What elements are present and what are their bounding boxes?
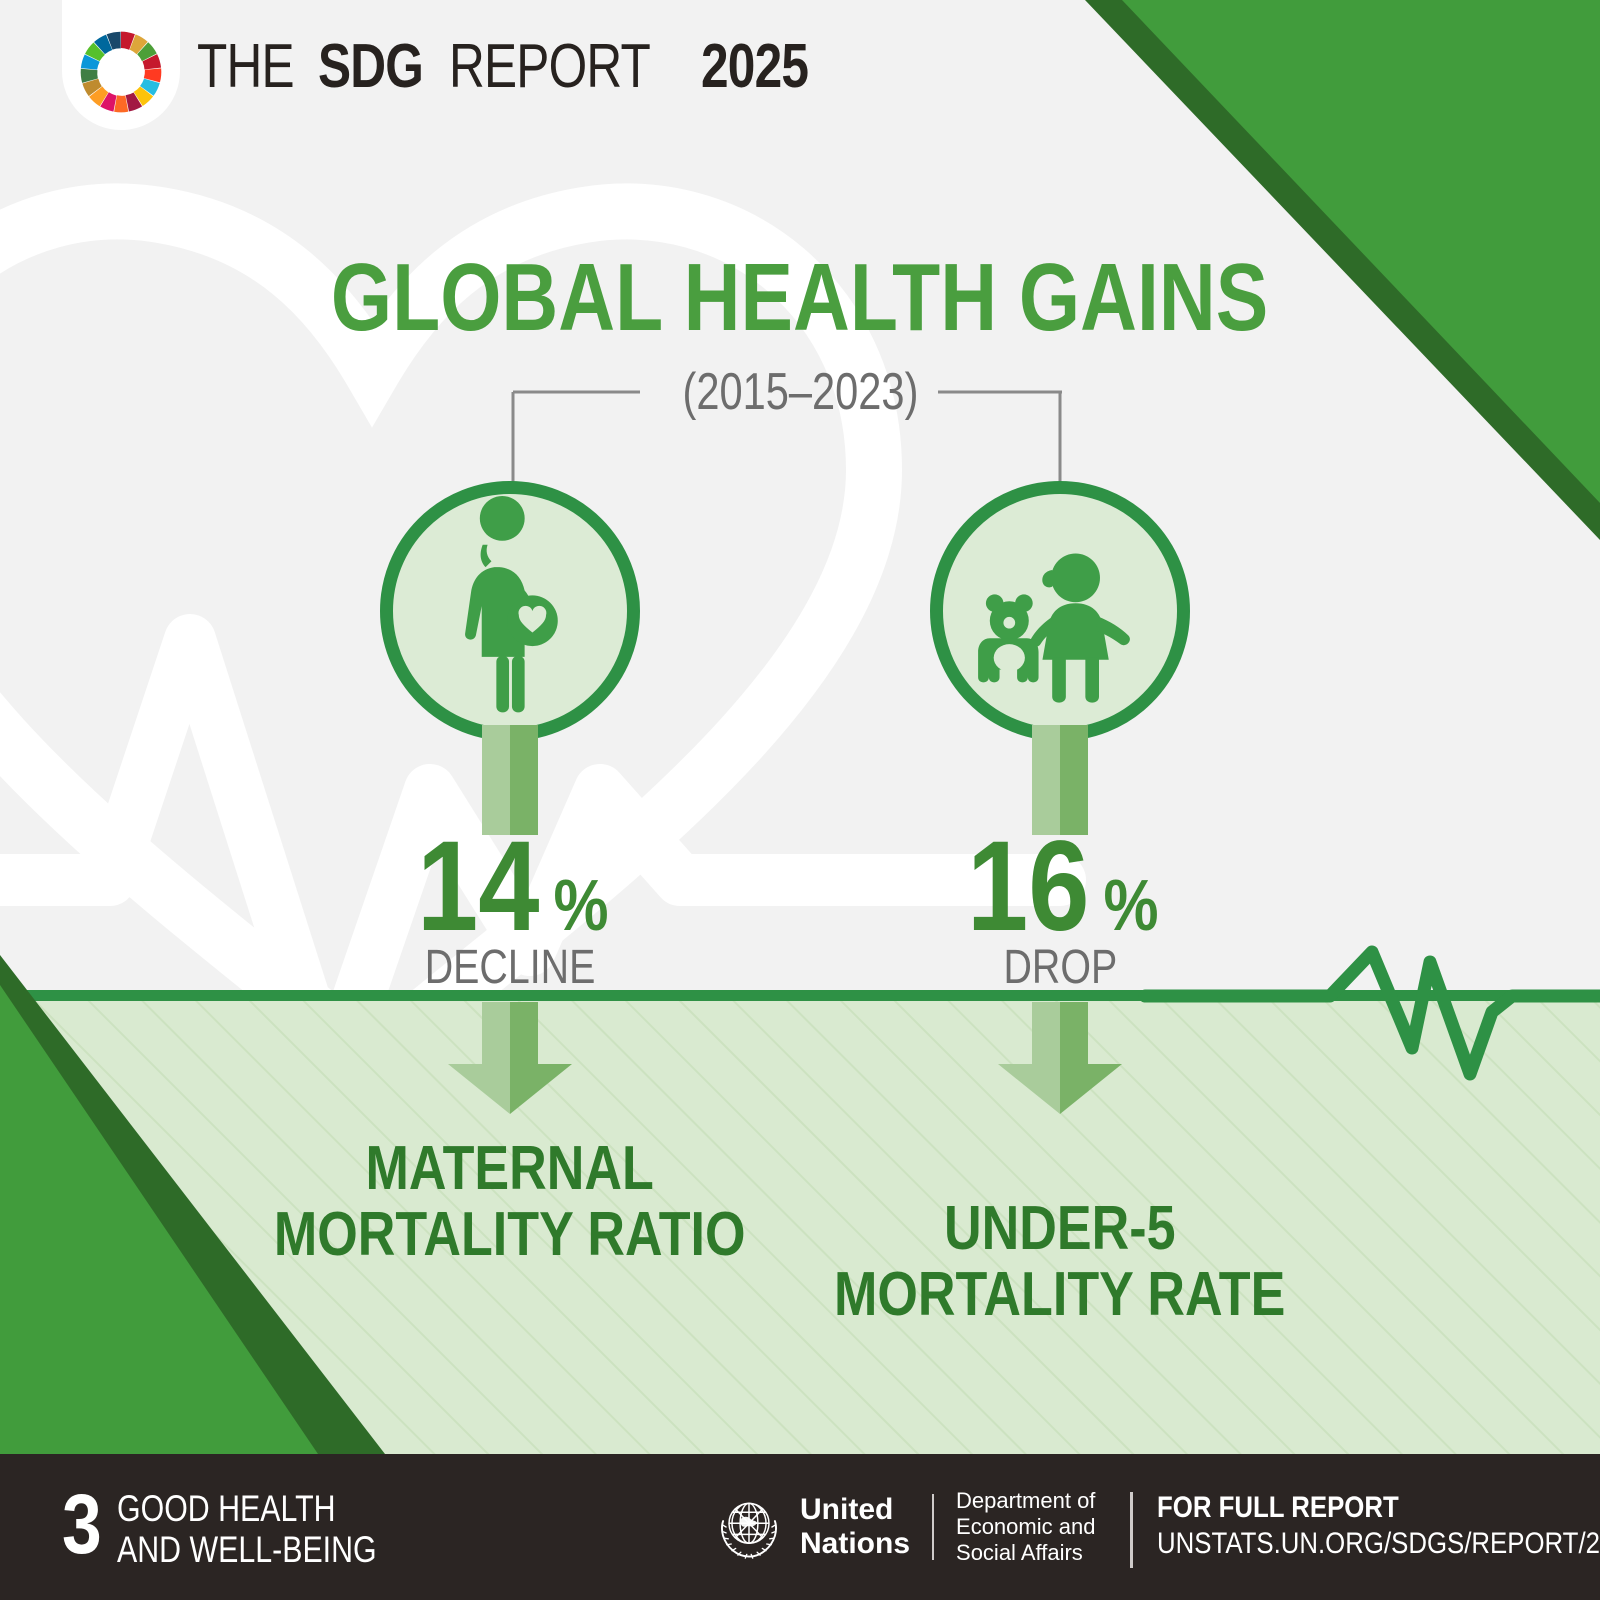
stat-number-maternal: 14 (417, 828, 539, 946)
sdg-color-wheel-icon (73, 24, 169, 120)
report-cta-text: FOR FULL REPORT (1157, 1490, 1399, 1526)
goal-number: 3 (62, 1482, 109, 1566)
footer-bar: 3 GOOD HEALTH AND WELL-BEING (0, 1454, 1600, 1600)
un-name: United Nations (800, 1493, 910, 1561)
stat-direction-under5-text: DROP (1003, 942, 1117, 994)
infographic-poster: THESDGREPORT2025 GLOBAL HEALTH GAINS (20… (0, 0, 1600, 1600)
report-url[interactable]: UNSTATS.UN.ORG/SDGS/REPORT/2025 (1157, 1526, 1600, 1562)
report-divider (1130, 1492, 1133, 1568)
report-url-text[interactable]: UNSTATS.UN.ORG/SDGS/REPORT/2025 (1157, 1526, 1600, 1562)
full-report-link[interactable]: FOR FULL REPORT UNSTATS.UN.ORG/SDGS/REPO… (1130, 1490, 1600, 1568)
stat-indicator-maternal-l2: MORTALITY RATIO (210, 1202, 810, 1268)
un-desa-logo: United Nations Department of Economic an… (712, 1490, 1095, 1564)
stat-indicator-under5-line2: MORTALITY RATE (834, 1262, 1285, 1328)
stat-direction-maternal: DECLINE (250, 942, 770, 994)
stat-indicator-under5: UNDER-5 (760, 1196, 1360, 1262)
child-with-teddy-bear-icon (943, 494, 1177, 728)
down-arrow-icon-under5 (998, 1002, 1122, 1114)
stat-direction-under5: DROP (800, 942, 1320, 994)
goal-title: GOOD HEALTH AND WELL-BEING (117, 1488, 434, 1570)
goal-title-line2: AND WELL-BEING (117, 1529, 377, 1570)
un-divider (932, 1494, 934, 1560)
icon-circle-under5 (930, 481, 1190, 741)
down-arrow-icon-maternal (448, 1002, 572, 1114)
goal-title-line1: GOOD HEALTH (117, 1488, 377, 1529)
un-department-line3: Social Affairs (956, 1540, 1095, 1566)
stat-number-under5: 16 (967, 828, 1089, 946)
un-emblem-icon (712, 1490, 786, 1564)
un-department-line2: Economic and (956, 1514, 1095, 1540)
un-name-line2: Nations (800, 1527, 910, 1561)
stat-indicator-under5-line1: UNDER-5 (944, 1196, 1175, 1262)
un-department-line1: Department of (956, 1488, 1095, 1514)
un-name-line1: United (800, 1493, 910, 1527)
stat-indicator-maternal: MATERNAL (210, 1136, 810, 1202)
stat-indicator-under5-l2: MORTALITY RATE (760, 1262, 1360, 1328)
stat-column-under5: 16% DROP UNDER-5 MORTALITY RATE (800, 0, 1320, 1600)
report-cta: FOR FULL REPORT (1157, 1490, 1600, 1526)
un-department: Department of Economic and Social Affair… (956, 1488, 1095, 1566)
icon-circle-maternal (380, 481, 640, 741)
pregnant-woman-heart-icon (393, 494, 627, 728)
stat-direction-maternal-text: DECLINE (425, 942, 596, 994)
stat-indicator-maternal-line1: MATERNAL (366, 1136, 654, 1202)
stat-column-maternal: 14% DECLINE MATERNAL MORTALITY RATIO (250, 0, 770, 1600)
goal-number-text: 3 (62, 1482, 102, 1566)
stat-indicator-maternal-line2: MORTALITY RATIO (274, 1202, 746, 1268)
